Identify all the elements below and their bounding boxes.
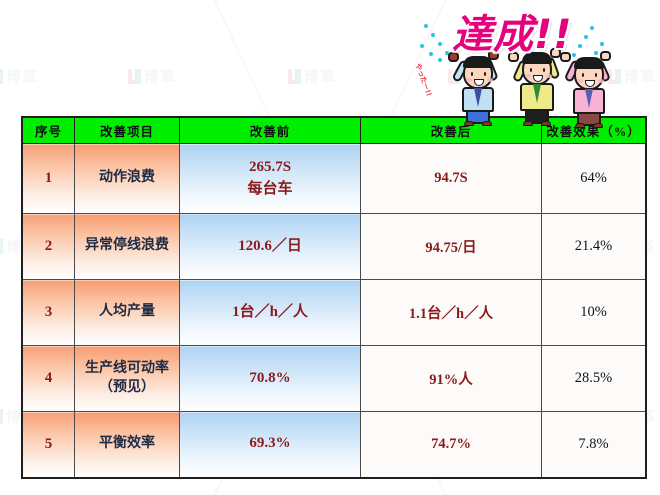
cheering-person-3 <box>556 50 626 122</box>
row-value-after: 1.1台／h／人 <box>361 280 542 346</box>
sparkle-icon <box>594 51 598 55</box>
row-value-after: 94.7S <box>361 144 542 214</box>
watermark: 博革 <box>128 66 176 87</box>
eye-right <box>595 73 597 77</box>
row-number: 1 <box>22 144 75 214</box>
row-item-name: 生产线可动率 （预见） <box>75 346 180 412</box>
shout-text-left: やったー!! <box>413 62 434 98</box>
sparkle-icon <box>600 42 604 46</box>
row-value-after: 74.7% <box>361 412 542 478</box>
sparkle-icon <box>424 24 428 28</box>
sparkle-icon <box>445 51 449 55</box>
row-value-before: 1台／h／人 <box>180 280 361 346</box>
column-header-item: 改善项目 <box>75 117 180 144</box>
sparkle-icon <box>420 44 424 48</box>
arm-right <box>545 56 561 80</box>
necktie <box>533 84 541 103</box>
row-value-before: 70.8% <box>180 346 361 412</box>
row-value-after: 91%人 <box>361 346 542 412</box>
arm-right <box>594 59 611 83</box>
row-value-before: 120.6／日 <box>180 214 361 280</box>
watermark-text: 博革 <box>464 66 496 87</box>
cheering-person-1 <box>446 50 516 122</box>
brand-logo-icon <box>0 409 3 424</box>
brand-logo-icon <box>0 69 3 84</box>
head <box>463 58 493 89</box>
hair <box>463 56 493 68</box>
cheering-person-2 <box>502 44 574 122</box>
watermark-text: 博革 <box>6 66 38 87</box>
head <box>522 54 552 85</box>
watermark-text: 博革 <box>144 66 176 87</box>
table-header-row: 序号 改善项目 改善前 改善后 改善效果（%） <box>22 117 646 144</box>
mouth <box>533 75 543 82</box>
brand-logo-icon <box>448 69 461 84</box>
row-value-before-line2: 每台车 <box>180 179 360 201</box>
watermark: 博革 <box>0 66 38 87</box>
watermark-text: 博革 <box>624 66 656 87</box>
sparkle-icon <box>572 53 576 57</box>
eye-left <box>582 73 584 77</box>
eye-right <box>543 68 545 72</box>
row-value-before: 265.7S 每台车 <box>180 144 361 214</box>
celebration-artwork: 達成!! やったー!! バンザーイ! <box>404 0 660 122</box>
brand-logo-icon <box>128 69 141 84</box>
eye-left <box>471 72 473 76</box>
row-value-before: 69.3% <box>180 412 361 478</box>
row-value-effect: 7.8% <box>542 412 647 478</box>
arm-left <box>512 59 529 83</box>
brand-logo-icon <box>288 69 301 84</box>
column-header-before: 改善前 <box>180 117 361 144</box>
table-row: 5 平衡效率 69.3% 74.7% 7.8% <box>22 412 646 478</box>
cheek-right <box>546 74 552 78</box>
sparkle-icon <box>590 26 594 30</box>
row-number: 5 <box>22 412 75 478</box>
row-value-effect: 28.5% <box>542 346 647 412</box>
watermark: 博革 <box>608 66 656 87</box>
fist-icon <box>448 52 459 62</box>
sparkle-icon <box>431 33 435 37</box>
mouth <box>585 80 595 87</box>
table-row: 1 动作浪费 265.7S 每台车 94.7S 64% <box>22 144 646 214</box>
row-item-name: 人均产量 <box>75 280 180 346</box>
headline-title: 達成!! <box>452 2 572 60</box>
cheek-left <box>577 79 583 83</box>
row-item-name: 平衡效率 <box>75 412 180 478</box>
watermark: 博革 <box>288 66 336 87</box>
fist-icon <box>508 52 519 62</box>
sparkle-icon <box>584 35 588 39</box>
row-value-before-line1: 265.7S <box>180 157 360 179</box>
fist-icon <box>550 48 561 58</box>
shout-text-right: バンザーイ! <box>587 62 605 102</box>
watermark-text: 博革 <box>304 66 336 87</box>
row-number: 3 <box>22 280 75 346</box>
row-value-effect: 64% <box>542 144 647 214</box>
arm-right <box>482 58 499 82</box>
column-header-no: 序号 <box>22 117 75 144</box>
row-item-name: 动作浪费 <box>75 144 180 214</box>
fist-icon <box>560 52 571 62</box>
row-value-after: 94.75/日 <box>361 214 542 280</box>
table-row: 2 异常停线浪费 120.6／日 94.75/日 21.4% <box>22 214 646 280</box>
head <box>574 59 604 90</box>
fist-icon <box>488 50 499 60</box>
row-item-name-line2: （预见） <box>75 379 179 398</box>
hair <box>574 57 604 69</box>
arm-left <box>451 59 469 83</box>
eye-left <box>530 68 532 72</box>
necktie <box>585 89 593 108</box>
row-number: 2 <box>22 214 75 280</box>
table-row: 4 生产线可动率 （预见） 70.8% 91%人 28.5% <box>22 346 646 412</box>
column-header-effect: 改善效果（%） <box>542 117 647 144</box>
cheek-right <box>487 78 493 82</box>
sparkle-icon <box>429 52 433 56</box>
fist-icon <box>600 51 611 61</box>
improvement-results-table: 序号 改善项目 改善前 改善后 改善效果（%） 1 动作浪费 265.7S 每台… <box>21 116 647 479</box>
brand-logo-icon <box>0 239 3 254</box>
mouth <box>474 79 484 86</box>
row-item-name: 异常停线浪费 <box>75 214 180 280</box>
row-number: 4 <box>22 346 75 412</box>
row-value-effect: 10% <box>542 280 647 346</box>
row-value-effect: 21.4% <box>542 214 647 280</box>
necktie <box>474 88 482 107</box>
sparkle-icon <box>587 59 591 63</box>
table-row: 3 人均产量 1台／h／人 1.1台／h／人 10% <box>22 280 646 346</box>
torso <box>573 88 605 114</box>
arm-left <box>564 59 582 83</box>
brand-logo-icon <box>608 69 621 84</box>
torso <box>520 83 554 111</box>
hair <box>522 52 552 64</box>
column-header-after: 改善后 <box>361 117 542 144</box>
cheek-right <box>598 79 604 83</box>
cheek-left <box>525 74 531 78</box>
sparkle-icon <box>438 42 442 46</box>
torso <box>462 87 494 112</box>
sparkle-icon <box>438 58 442 62</box>
watermark: 博革 <box>448 66 496 87</box>
row-item-name-line1: 生产线可动率 <box>75 360 179 379</box>
eye-right <box>484 72 486 76</box>
cheek-left <box>466 78 472 82</box>
sparkle-icon <box>578 44 582 48</box>
